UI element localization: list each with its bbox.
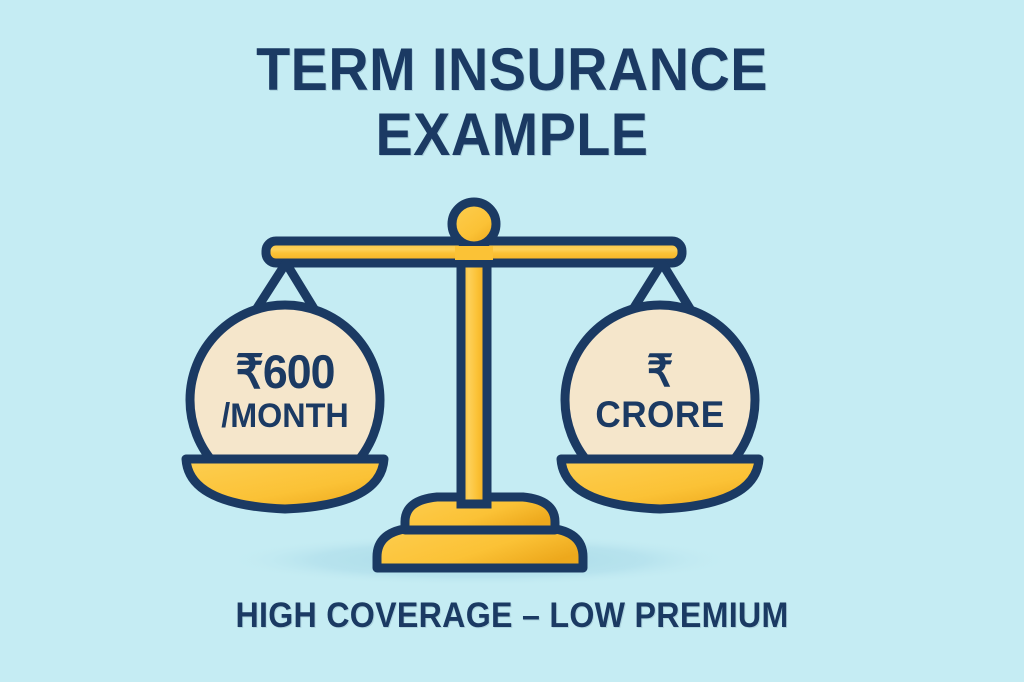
center-post xyxy=(461,232,487,504)
balance-scale-illustration xyxy=(0,0,1024,682)
right-pan-bowl xyxy=(561,459,759,509)
pivot-knob xyxy=(452,202,496,246)
beam-face-overlay xyxy=(455,246,493,260)
poster-canvas: TERM INSURANCE EXAMPLE xyxy=(0,0,1024,682)
left-pan-bowl xyxy=(186,459,384,509)
caption-text: HIGH COVERAGE – LOW PREMIUM xyxy=(41,596,983,636)
